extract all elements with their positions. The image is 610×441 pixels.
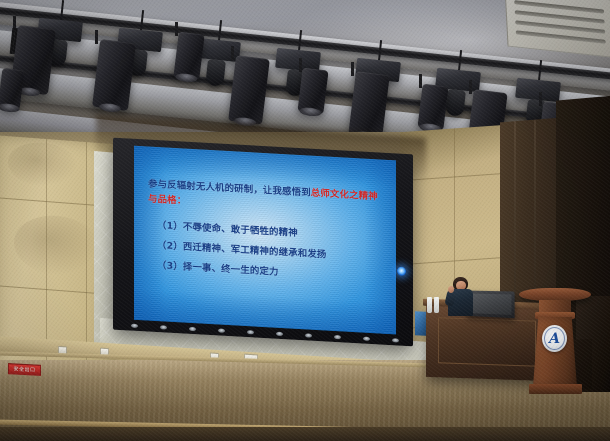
lectern-podium: A [525, 288, 585, 400]
power-led-indicator-icon [397, 266, 406, 276]
presentation-slide: 参与反辐射无人机的研制，让我感悟到总师文化之精神与品格： （1）不辱使命、敢于牺… [134, 146, 396, 335]
table-front-panel [438, 317, 536, 366]
bezel-light [305, 333, 312, 337]
bezel-light [334, 334, 341, 338]
bezel-light [189, 326, 196, 330]
led-screen-surface: 参与反辐射无人机的研制，让我感悟到总师文化之精神与品格： （1）不辱使命、敢于牺… [134, 146, 396, 335]
bezel-light [247, 330, 254, 334]
bezel-light [131, 323, 138, 327]
led-display-screen[interactable]: 参与反辐射无人机的研制，让我感悟到总师文化之精神与品格： （1）不辱使命、敢于牺… [113, 138, 413, 347]
seal-letter: A [549, 332, 560, 346]
stage-front-edge [0, 427, 610, 441]
drinking-cups [427, 297, 441, 314]
exit-sign-label: 安全出口 [13, 365, 35, 373]
slide-heading-colon: ： [177, 195, 187, 207]
podium-base [529, 384, 582, 394]
speaker-hand [448, 286, 454, 293]
slide-heading: 参与反辐射无人机的研制，让我感悟到总师文化之精神与品格： [148, 177, 386, 220]
speaker-person [446, 277, 474, 315]
bezel-light [160, 325, 167, 329]
bezel-light [218, 328, 225, 332]
laptop-lid [470, 294, 512, 315]
exit-safety-sign: 安全出口 [8, 363, 41, 376]
bezel-light [276, 331, 283, 335]
university-seal-icon: A [542, 325, 567, 352]
bezel-light [392, 338, 399, 342]
slide-bullet-list: （1）不辱使命、敢于牺牲的精神 （2）西迁精神、军工精神的继承和发扬 （3）择一… [148, 216, 386, 289]
bezel-light [363, 336, 370, 340]
auditorium-photo: 参与反辐射无人机的研制，让我感悟到总师文化之精神与品格： （1）不辱使命、敢于牺… [0, 0, 610, 441]
